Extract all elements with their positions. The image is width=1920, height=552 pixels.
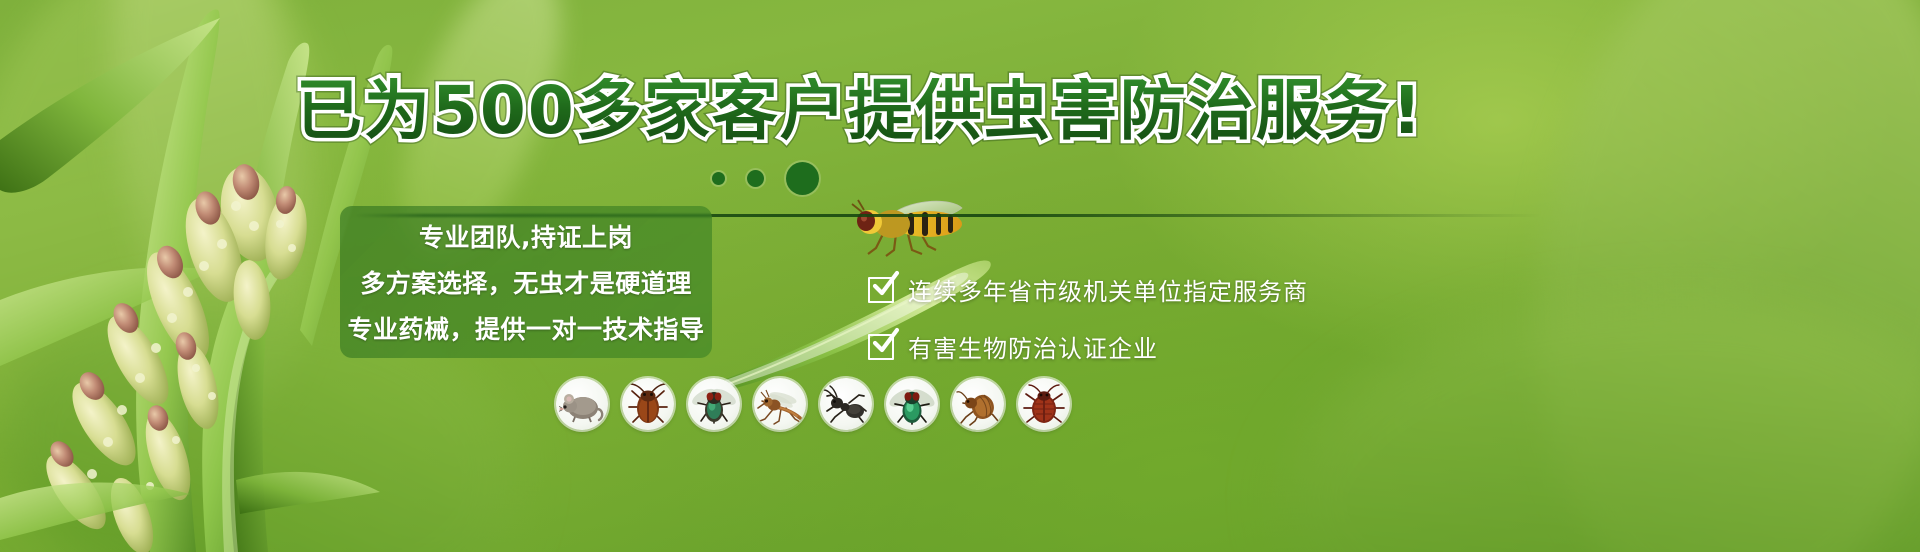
cockroach-icon (625, 381, 671, 427)
pest-icon-row (556, 378, 1070, 430)
background-blade (1265, 270, 1920, 552)
dot-medium-icon (747, 170, 764, 187)
bullet-text: 连续多年省市级机关单位指定服务商 (908, 272, 1308, 307)
panel-line-3: 专业药械，提供一对一技术指导 (348, 310, 705, 346)
flea-icon (955, 381, 1001, 427)
housefly-icon (691, 381, 737, 427)
blowfly-icon (889, 381, 935, 427)
panel-line-2: 多方案选择，无虫才是硬道理 (360, 264, 692, 300)
hoverfly-icon (836, 196, 976, 266)
checkbox-checked-icon (868, 334, 894, 360)
pest-chip-flea[interactable] (952, 378, 1004, 430)
mosquito-icon (757, 381, 803, 427)
feature-bullet-list: 连续多年省市级机关单位指定服务商 有害生物防治认证企业 (868, 272, 1308, 364)
mouse-icon (559, 381, 605, 427)
decorative-dots (712, 162, 819, 195)
pest-chip-mouse[interactable] (556, 378, 608, 430)
list-item: 有害生物防治认证企业 (868, 329, 1308, 364)
pest-chip-blowfly[interactable] (886, 378, 938, 430)
dot-large-icon (786, 162, 819, 195)
pest-chip-bedbug[interactable] (1018, 378, 1070, 430)
pest-chip-ant[interactable] (820, 378, 872, 430)
page-title: 已为500多家客户提供虫害防治服务! (0, 78, 1920, 144)
pest-chip-mosquito[interactable] (754, 378, 806, 430)
background-blade (85, 0, 336, 410)
checkbox-checked-icon (868, 277, 894, 303)
pest-control-banner: 已为500多家客户提供虫害防治服务! 已为500多家客户提供虫害防治服务! 已为… (0, 0, 1920, 552)
pest-chip-cockroach[interactable] (622, 378, 674, 430)
panel-line-1: 专业团队,持证上岗 (419, 218, 633, 254)
list-item: 连续多年省市级机关单位指定服务商 (868, 272, 1308, 307)
highlight-panel-text: 专业团队,持证上岗 多方案选择，无虫才是硬道理 专业药械，提供一对一技术指导 (340, 206, 712, 358)
bullet-text: 有害生物防治认证企业 (908, 329, 1158, 364)
pest-chip-housefly[interactable] (688, 378, 740, 430)
ant-icon (823, 381, 869, 427)
dot-small-icon (712, 172, 725, 185)
bedbug-icon (1021, 381, 1067, 427)
